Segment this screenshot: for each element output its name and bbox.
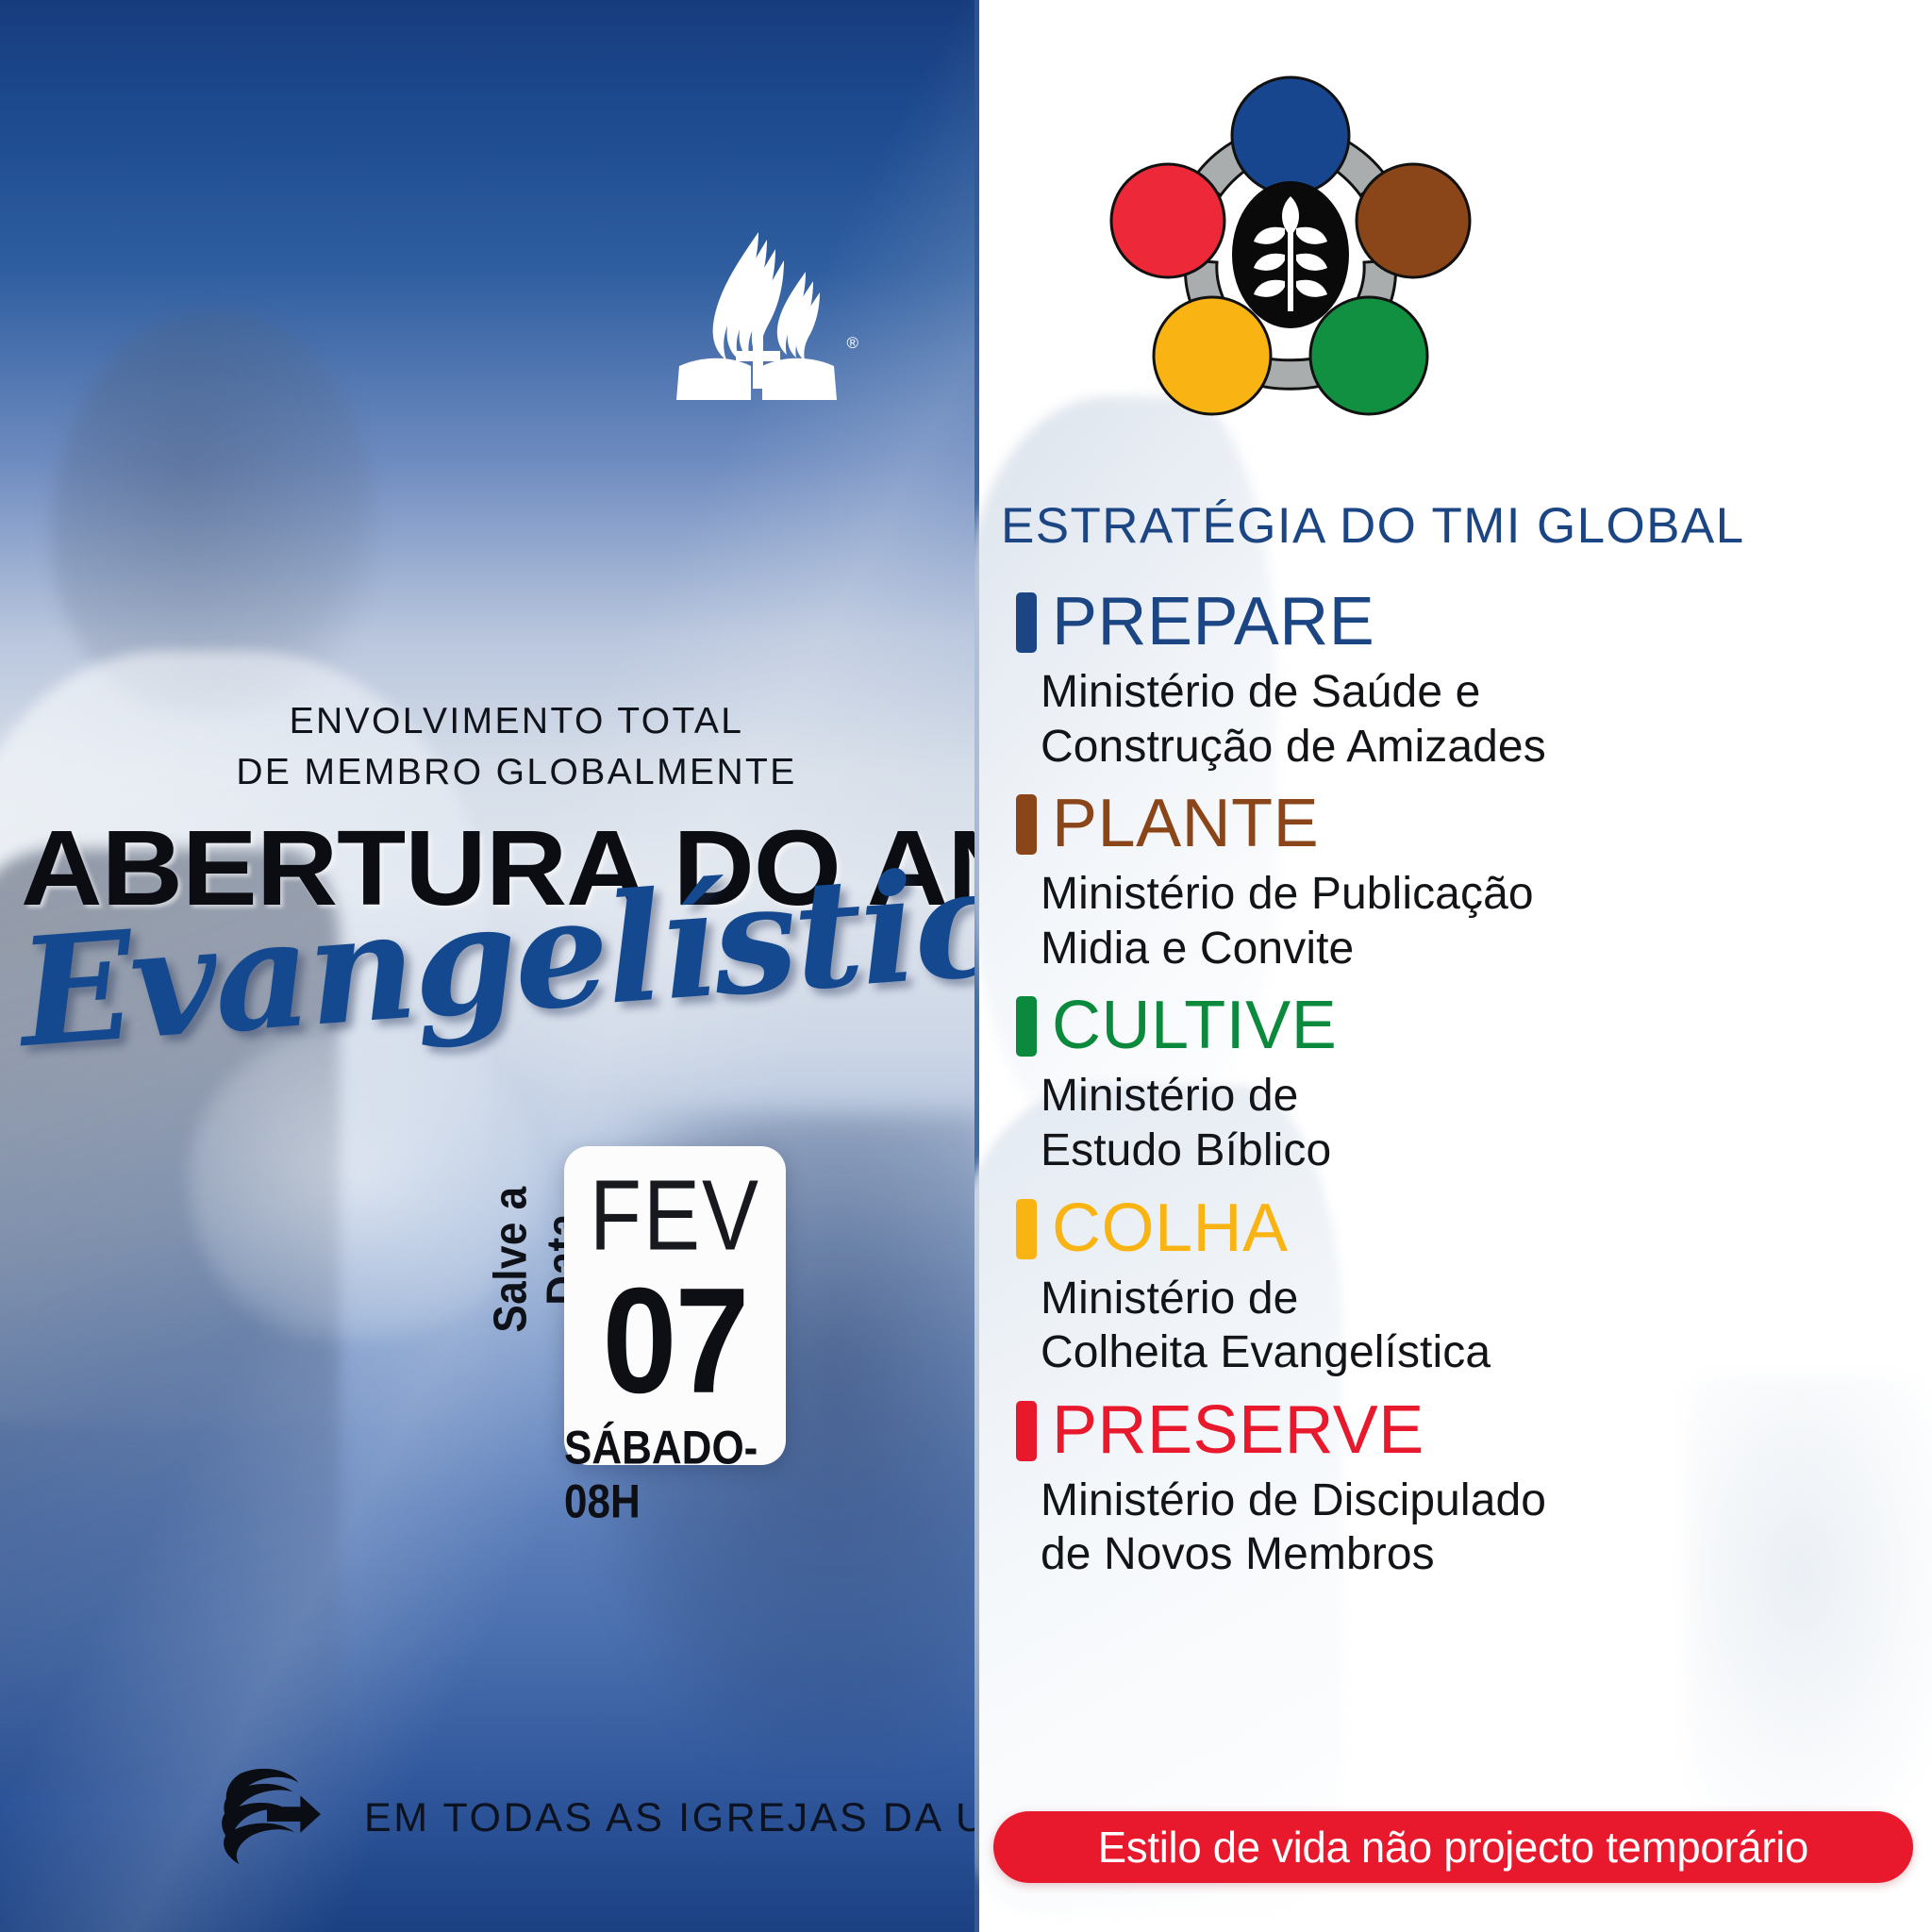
strategy-label: PREPARE bbox=[1052, 588, 1374, 656]
strategy-description: Ministério de Colheita Evangelística bbox=[1041, 1272, 1922, 1380]
save-the-date-block: Salve a Data FEV 07 SÁBADO- 08H bbox=[528, 1146, 821, 1472]
strategy-description: Ministério de Estudo Bíblico bbox=[1041, 1069, 1922, 1177]
strategy-label: PLANTE bbox=[1052, 790, 1319, 858]
poster-canvas: ® ENVOLVIMENTO TOTAL DE MEMBRO GLOBALMEN… bbox=[0, 0, 1932, 1932]
strategy-desc-line-1: Ministério de Publicação bbox=[1041, 867, 1922, 922]
date-day: 07 bbox=[603, 1273, 748, 1410]
strategy-description: Ministério de Discipulado de Novos Membr… bbox=[1041, 1474, 1922, 1582]
tmi-logo bbox=[1088, 58, 1493, 436]
strategy-item-plante: PLANTE Ministério de Publicação Midia e … bbox=[1016, 790, 1922, 975]
strategy-description: Ministério de Publicação Midia e Convite bbox=[1041, 867, 1922, 975]
kicker-text: ENVOLVIMENTO TOTAL DE MEMBRO GLOBALMENTE bbox=[0, 696, 974, 798]
strategy-head: CULTIVE bbox=[1016, 991, 1922, 1059]
strategy-desc-line-2: Colheita Evangelística bbox=[1041, 1325, 1922, 1380]
strategy-item-cultive: CULTIVE Ministério de Estudo Bíblico bbox=[1016, 991, 1922, 1177]
date-card: FEV 07 SÁBADO- 08H bbox=[564, 1146, 786, 1465]
strategy-head: PRESERVE bbox=[1016, 1396, 1922, 1464]
strategy-title: ESTRATÉGIA DO TMI GLOBAL bbox=[1001, 497, 1932, 555]
strategy-desc-line-2: Midia e Convite bbox=[1041, 922, 1922, 976]
accent-bar-icon bbox=[1016, 1199, 1037, 1259]
strategy-list: PREPARE Ministério de Saúde e Construção… bbox=[1016, 588, 1922, 1598]
strategy-description: Ministério de Saúde e Construção de Amiz… bbox=[1041, 665, 1922, 774]
accent-bar-icon bbox=[1016, 996, 1037, 1057]
strategy-desc-line-1: Ministério de bbox=[1041, 1069, 1922, 1124]
accent-bar-icon bbox=[1016, 1401, 1037, 1461]
strategy-desc-line-2: Construção de Amizades bbox=[1041, 720, 1922, 774]
strategy-head: COLHA bbox=[1016, 1194, 1922, 1262]
strategy-desc-line-1: Ministério de bbox=[1041, 1272, 1922, 1326]
date-weekday-time: SÁBADO- 08H bbox=[564, 1422, 786, 1529]
adventist-logo: ® bbox=[672, 225, 841, 404]
right-panel: ESTRATÉGIA DO TMI GLOBAL PREPARE Ministé… bbox=[974, 0, 1932, 1932]
kicker-line-1: ENVOLVIMENTO TOTAL bbox=[58, 696, 974, 747]
strategy-desc-line-2: de Novos Membros bbox=[1041, 1527, 1922, 1582]
footer-text: EM TODAS AS IGREJAS DA UNA bbox=[364, 1795, 974, 1841]
registered-trademark-mark: ® bbox=[846, 335, 858, 351]
strategy-label: COLHA bbox=[1052, 1194, 1289, 1262]
globe-arrow-icon bbox=[209, 1762, 321, 1874]
strategy-desc-line-2: Estudo Bíblico bbox=[1041, 1124, 1922, 1178]
slogan-banner: Estilo de vida não projecto temporário bbox=[993, 1811, 1913, 1883]
strategy-label: CULTIVE bbox=[1052, 991, 1337, 1059]
kicker-line-2: DE MEMBRO GLOBALMENTE bbox=[58, 747, 974, 798]
accent-bar-icon bbox=[1016, 794, 1037, 855]
strategy-head: PREPARE bbox=[1016, 588, 1922, 656]
left-panel: ® ENVOLVIMENTO TOTAL DE MEMBRO GLOBALMEN… bbox=[0, 0, 974, 1932]
footer-left: EM TODAS AS IGREJAS DA UNA bbox=[209, 1762, 974, 1874]
strategy-desc-line-1: Ministério de Discipulado bbox=[1041, 1474, 1922, 1528]
slogan-banner-text: Estilo de vida não projecto temporário bbox=[1098, 1822, 1808, 1873]
date-month: FEV bbox=[590, 1167, 760, 1265]
strategy-item-prepare: PREPARE Ministério de Saúde e Construção… bbox=[1016, 588, 1922, 774]
accent-bar-icon bbox=[1016, 592, 1037, 653]
strategy-head: PLANTE bbox=[1016, 790, 1922, 858]
strategy-item-colha: COLHA Ministério de Colheita Evangelísti… bbox=[1016, 1194, 1922, 1380]
strategy-item-preserve: PRESERVE Ministério de Discipulado de No… bbox=[1016, 1396, 1922, 1582]
strategy-label: PRESERVE bbox=[1052, 1396, 1424, 1464]
strategy-desc-line-1: Ministério de Saúde e bbox=[1041, 665, 1922, 720]
